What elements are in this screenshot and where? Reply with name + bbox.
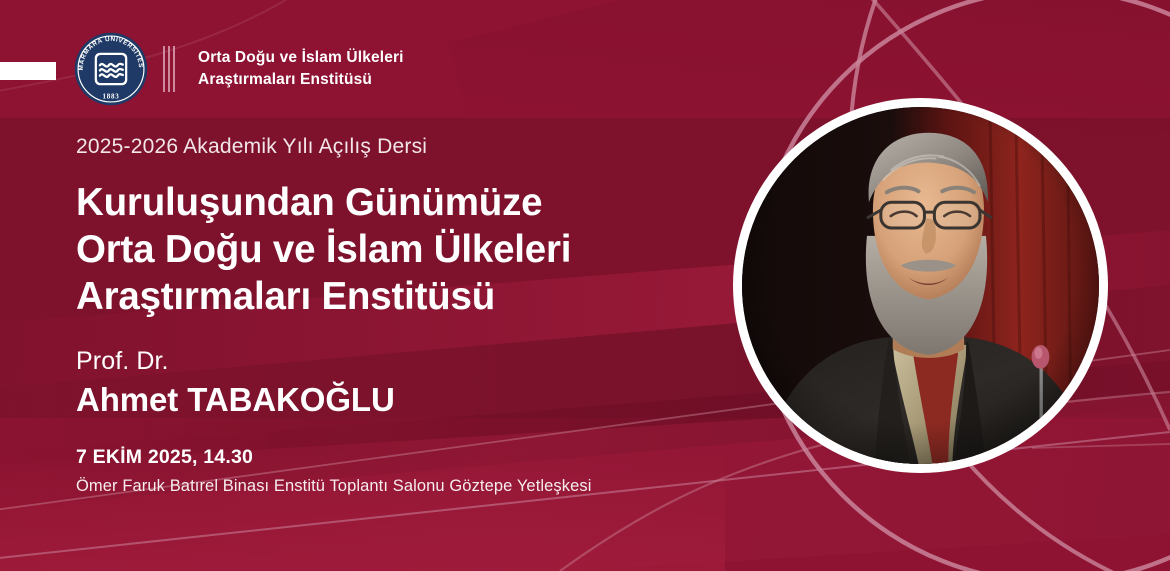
event-banner: MARMARA ÜNİVERSİTESİ 1883 Orta Doğu ve İ…	[0, 0, 1170, 571]
svg-text:1883: 1883	[103, 93, 120, 101]
institute-name-line-2: Araştırmaları Enstitüsü	[198, 69, 404, 91]
institute-name: Orta Doğu ve İslam Ülkeleri Araştırmalar…	[198, 47, 404, 91]
marmara-university-seal-icon: MARMARA ÜNİVERSİTESİ 1883	[74, 32, 148, 106]
triple-vertical-line-divider-icon	[163, 46, 175, 92]
speaker-block: Prof. Dr. Ahmet TABAKOĞLU	[76, 347, 736, 419]
speaker-academic-title: Prof. Dr.	[76, 347, 736, 377]
event-title-line-2: Orta Doğu ve İslam Ülkeleri	[76, 227, 736, 274]
speaker-portrait	[742, 107, 1099, 464]
event-title: Kuruluşundan Günümüze Orta Doğu ve İslam…	[76, 180, 736, 321]
banner-content: 2025-2026 Akademik Yılı Açılış Dersi Kur…	[76, 134, 736, 496]
event-venue: Ömer Faruk Batırel Binası Enstitü Toplan…	[76, 477, 736, 496]
speaker-name: Ahmet TABAKOĞLU	[76, 380, 736, 420]
academic-year-kicker: 2025-2026 Akademik Yılı Açılış Dersi	[76, 134, 736, 160]
event-datetime: 7 EKİM 2025, 14.30	[76, 446, 736, 469]
white-notch-bar	[0, 62, 56, 80]
event-title-line-1: Kuruluşundan Günümüze	[76, 180, 736, 227]
logo-lockup: MARMARA ÜNİVERSİTESİ 1883 Orta Doğu ve İ…	[74, 32, 404, 106]
speaker-portrait-frame	[733, 98, 1108, 473]
event-title-line-3: Araştırmaları Enstitüsü	[76, 274, 736, 321]
institute-name-line-1: Orta Doğu ve İslam Ülkeleri	[198, 47, 404, 69]
